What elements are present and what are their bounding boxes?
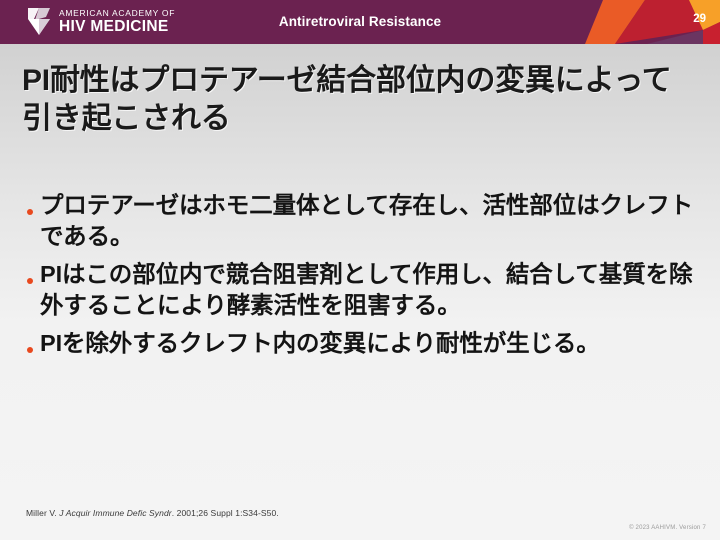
bullet-list: プロテアーゼはホモ二量体として存在し、活性部位はクレフトである。 PIはこの部位… [20,190,704,366]
list-item-text: PIはこの部位内で競合阻害剤として作用し、結合して基質を除外することにより酵素活… [40,259,704,321]
bullet-dot-icon [20,190,40,220]
logo-wordmark: AMERICAN ACADEMY OF HIV MEDICINE [59,9,175,35]
citation-author: Miller V. [26,508,59,518]
bullet-dot-icon [20,259,40,289]
logo-triangle-icon [26,7,52,36]
bullet-dot-icon [20,328,40,358]
citation: Miller V. J Acquir Immune Defic Syndr. 2… [26,508,279,518]
slide-header: AMERICAN ACADEMY OF HIV MEDICINE Antiret… [0,0,720,44]
logo-line-hiv-medicine: HIV MEDICINE [59,19,175,35]
slide-number: 29 [693,13,706,25]
aahivm-logo: AMERICAN ACADEMY OF HIV MEDICINE [26,7,175,36]
citation-detail: . 2001;26 Suppl 1:S34-S50. [172,508,279,518]
list-item-text: プロテアーゼはホモ二量体として存在し、活性部位はクレフトである。 [40,190,704,252]
page-title: PI耐性はプロテアーゼ結合部位内の変異によって引き起こされる [22,62,698,139]
list-item: PIはこの部位内で競合阻害剤として作用し、結合して基質を除外することにより酵素活… [20,259,704,321]
logo-line-academy: AMERICAN ACADEMY OF [59,9,175,18]
copyright-notice: © 2023 AAHIVM. Version 7 [629,525,706,531]
slide-canvas: AMERICAN ACADEMY OF HIV MEDICINE Antiret… [0,0,720,540]
citation-journal: J Acquir Immune Defic Syndr [59,508,171,518]
list-item-text: PIを除外するクレフト内の変異により耐性が生じる。 [40,328,704,359]
list-item: PIを除外するクレフト内の変異により耐性が生じる。 [20,328,704,359]
list-item: プロテアーゼはホモ二量体として存在し、活性部位はクレフトである。 [20,190,704,252]
